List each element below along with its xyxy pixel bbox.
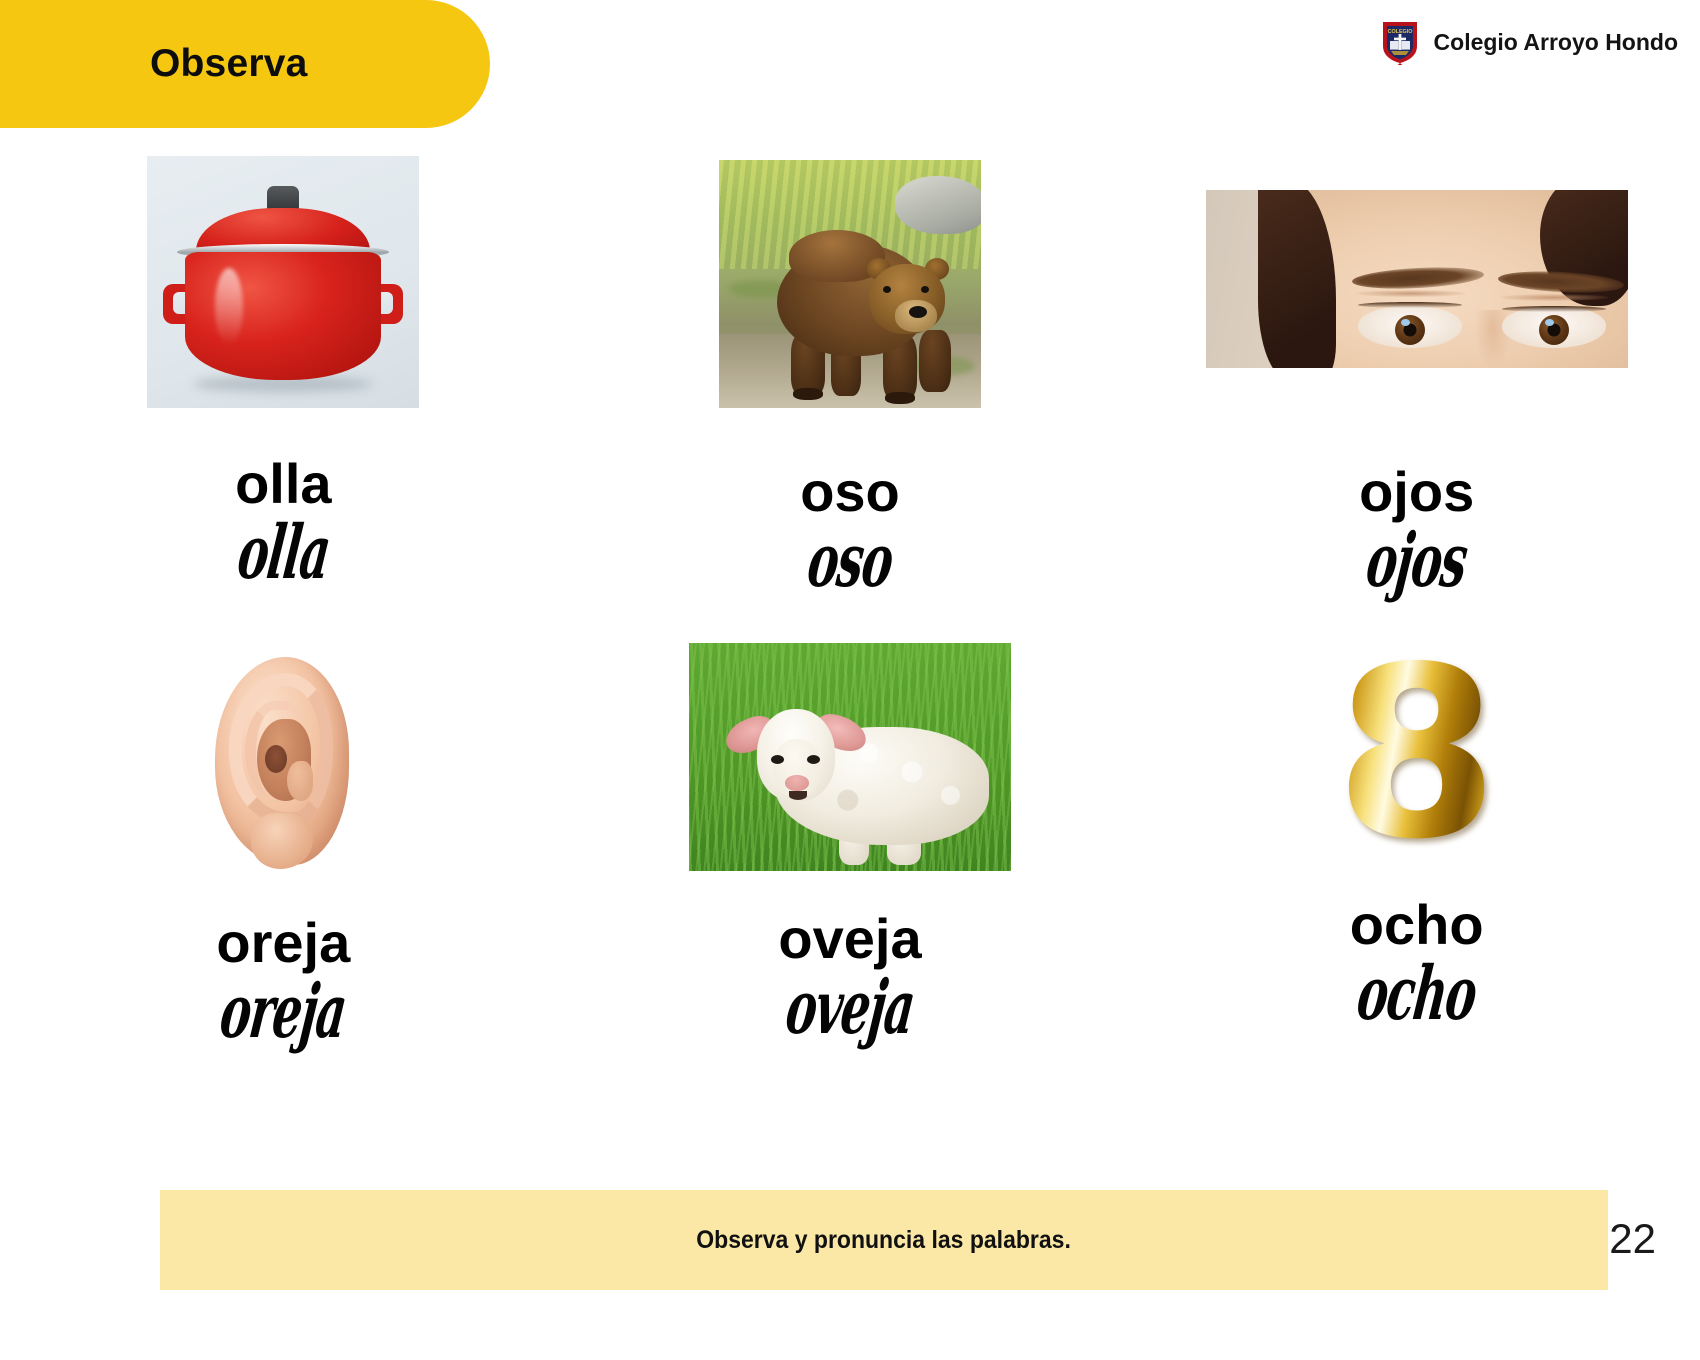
word-card-media	[719, 150, 981, 408]
golden-eight-digit: 8	[1335, 655, 1499, 853]
word-script-label: oreja	[217, 975, 350, 1049]
word-print-label: oreja	[216, 915, 350, 971]
instruction-banner: Observa y pronuncia las palabras.	[160, 1190, 1608, 1290]
word-card-media: 8	[1322, 615, 1512, 871]
word-card-ocho[interactable]: 8 ocho ocho	[1133, 615, 1700, 1080]
word-card-media	[1206, 150, 1628, 408]
word-card-media	[147, 150, 419, 408]
word-print-label: oveja	[778, 911, 921, 967]
word-script-label: ocho	[1353, 957, 1479, 1031]
brand-lockup: COLEGIO Colegio Arroyo Hondo	[1380, 19, 1678, 65]
red-cooking-pot-photo	[147, 156, 419, 408]
human-eyes-closeup-photo	[1206, 190, 1628, 368]
word-card-olla[interactable]: olla olla	[0, 150, 567, 615]
word-print-label: ojos	[1359, 464, 1474, 520]
golden-number-eight-graphic: 8	[1322, 637, 1512, 871]
white-sheep-photo	[689, 643, 1011, 871]
brown-bear-photo	[719, 160, 981, 408]
word-script-label: ojos	[1363, 524, 1471, 598]
page-number: 22	[1609, 1215, 1656, 1263]
instruction-text: Observa y pronuncia las palabras.	[697, 1226, 1072, 1255]
word-card-media	[203, 615, 363, 871]
word-card-oreja[interactable]: oreja oreja	[0, 615, 567, 1080]
vocabulary-grid: olla olla	[0, 150, 1700, 1080]
word-script-label: olla	[234, 516, 333, 590]
word-script-label: oso	[804, 524, 896, 598]
ear-illustration	[203, 657, 363, 871]
word-card-media	[689, 615, 1011, 871]
section-title-pill: Observa	[0, 0, 490, 128]
slide-page: Observa COLEGIO Colegio Arroyo Hondo	[0, 0, 1700, 1360]
word-print-label: ocho	[1350, 897, 1484, 953]
word-print-label: oso	[800, 464, 900, 520]
word-card-ojos[interactable]: ojos ojos	[1133, 150, 1700, 615]
word-card-oveja[interactable]: oveja oveja	[567, 615, 1134, 1080]
word-print-label: olla	[235, 456, 331, 512]
school-crest-shield-icon: COLEGIO	[1380, 19, 1420, 65]
word-card-oso[interactable]: oso oso	[567, 150, 1134, 615]
page-title: Observa	[150, 42, 308, 86]
word-script-label: oveja	[782, 971, 918, 1045]
brand-name-label: Colegio Arroyo Hondo	[1434, 29, 1678, 56]
